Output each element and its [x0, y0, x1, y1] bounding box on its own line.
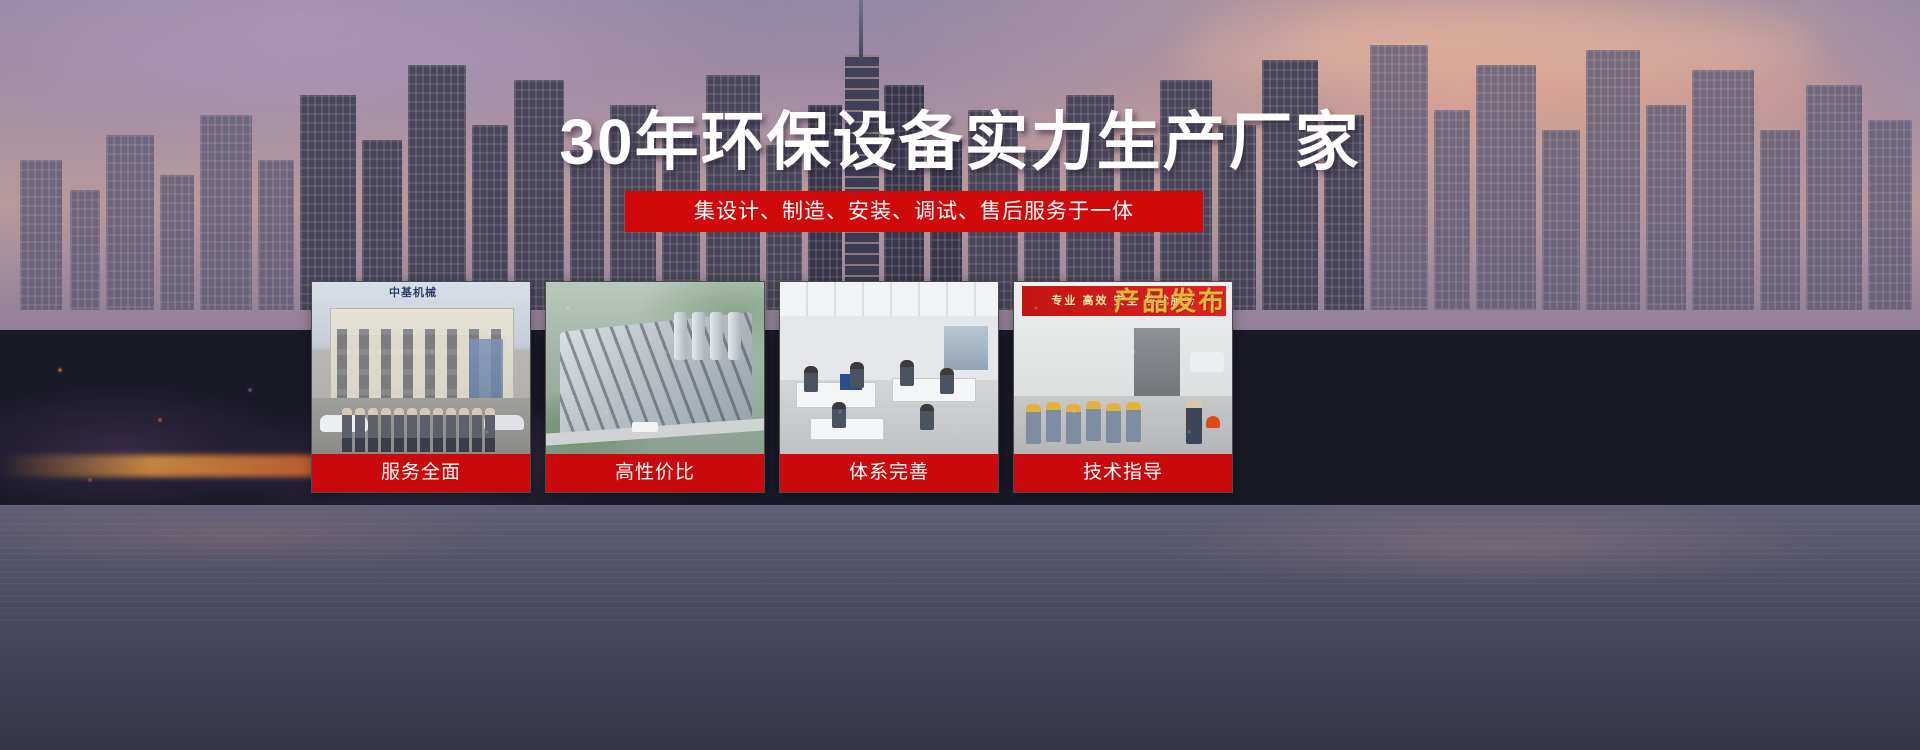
card-label: 技术指导: [1014, 454, 1232, 492]
hero-subtitle-bar: 集设计、制造、安装、调试、售后服务于一体: [625, 191, 1203, 232]
feature-card[interactable]: 高性价比: [545, 281, 765, 493]
card-label: 高性价比: [546, 454, 764, 492]
feature-card[interactable]: 专业 高效 安全 热忱服务 产品发布 技术指导: [1013, 281, 1233, 493]
card-photo-workshop: 专业 高效 安全 热忱服务 产品发布: [1014, 282, 1232, 454]
workshop-wall-text: 产品发布: [1114, 288, 1226, 314]
hero-headline: 30年环保设备实力生产厂家: [0, 103, 1920, 181]
card-label: 服务全面: [312, 454, 530, 492]
safety-helmet-icon: [1206, 416, 1220, 428]
feature-card[interactable]: 体系完善: [779, 281, 999, 493]
card-photo-company-building: 中基机械: [312, 282, 530, 454]
card-label: 体系完善: [780, 454, 998, 492]
feature-card-list: 中基机械 服务全面: [311, 281, 1263, 493]
building-sign-text: 中基机械: [364, 286, 462, 301]
hero-banner: 30年环保设备实力生产厂家 集设计、制造、安装、调试、售后服务于一体 中基机械: [0, 0, 1920, 750]
card-photo-office: [780, 282, 998, 454]
hero-content: 30年环保设备实力生产厂家 集设计、制造、安装、调试、售后服务于一体 中基机械: [0, 0, 1920, 750]
card-photo-production-plant: [546, 282, 764, 454]
hero-subtitle-text: 集设计、制造、安装、调试、售后服务于一体: [694, 191, 1134, 232]
staff-row: [342, 408, 510, 452]
feature-card[interactable]: 中基机械 服务全面: [311, 281, 531, 493]
